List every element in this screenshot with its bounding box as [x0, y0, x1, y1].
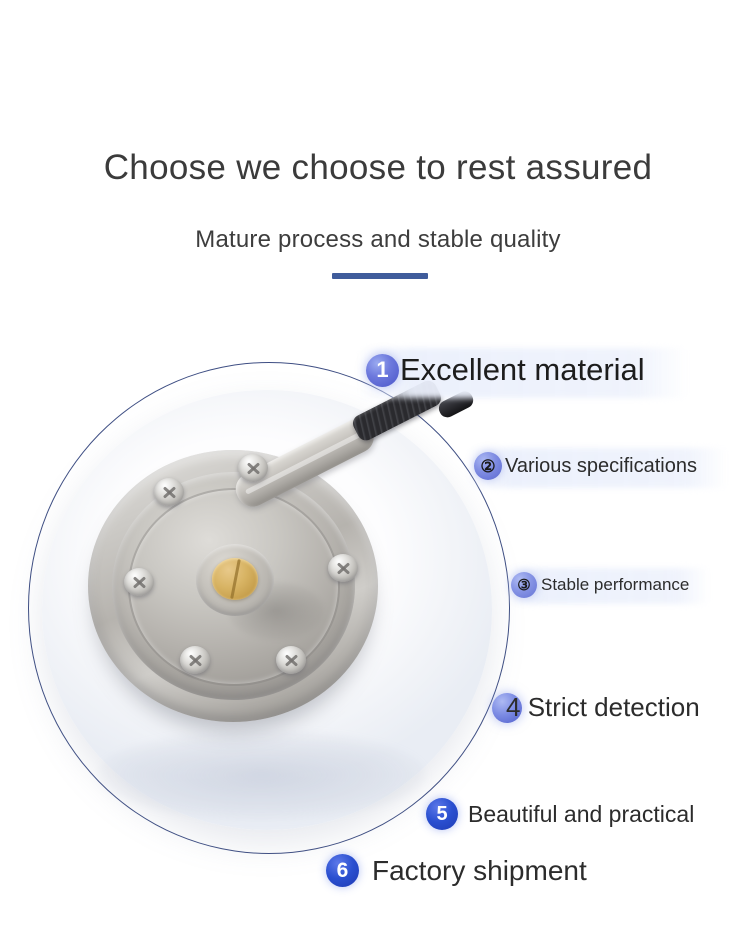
feature-6-label: Factory shipment	[372, 855, 587, 887]
screw-icon	[328, 554, 358, 582]
product-feature-banner: Choose we choose to rest assured Mature …	[0, 0, 756, 945]
page-subtitle: Mature process and stable quality	[0, 226, 756, 254]
feature-3-badge: ③	[511, 572, 537, 598]
screw-icon	[154, 478, 184, 506]
feature-1-label: Excellent material	[400, 352, 645, 388]
screw-icon	[238, 454, 268, 482]
screw-icon	[180, 646, 210, 674]
title-divider	[332, 273, 428, 279]
feature-1-badge: 1	[366, 354, 399, 387]
load-cell-device	[88, 450, 378, 740]
feature-item-1: 1 Excellent material	[366, 352, 645, 388]
feature-3-label: Stable performance	[541, 575, 689, 595]
screw-icon	[124, 568, 154, 596]
feature-item-4: 4 Strict detection	[492, 692, 700, 723]
screw-icon	[276, 646, 306, 674]
product-shadow	[96, 730, 426, 820]
feature-item-3: ③ Stable performance	[511, 572, 689, 598]
feature-2-badge: ②	[474, 452, 502, 480]
feature-item-5: 5 Beautiful and practical	[426, 798, 694, 830]
feature-4-label: 4 Strict detection	[506, 692, 700, 723]
feature-5-badge: 5	[426, 798, 458, 830]
page-title: Choose we choose to rest assured	[0, 148, 756, 188]
feature-item-6: 6 Factory shipment	[326, 854, 587, 887]
feature-2-label: Various specifications	[505, 455, 697, 478]
feature-5-label: Beautiful and practical	[468, 801, 694, 828]
feature-6-badge: 6	[326, 854, 359, 887]
feature-item-2: ② Various specifications	[474, 452, 697, 480]
